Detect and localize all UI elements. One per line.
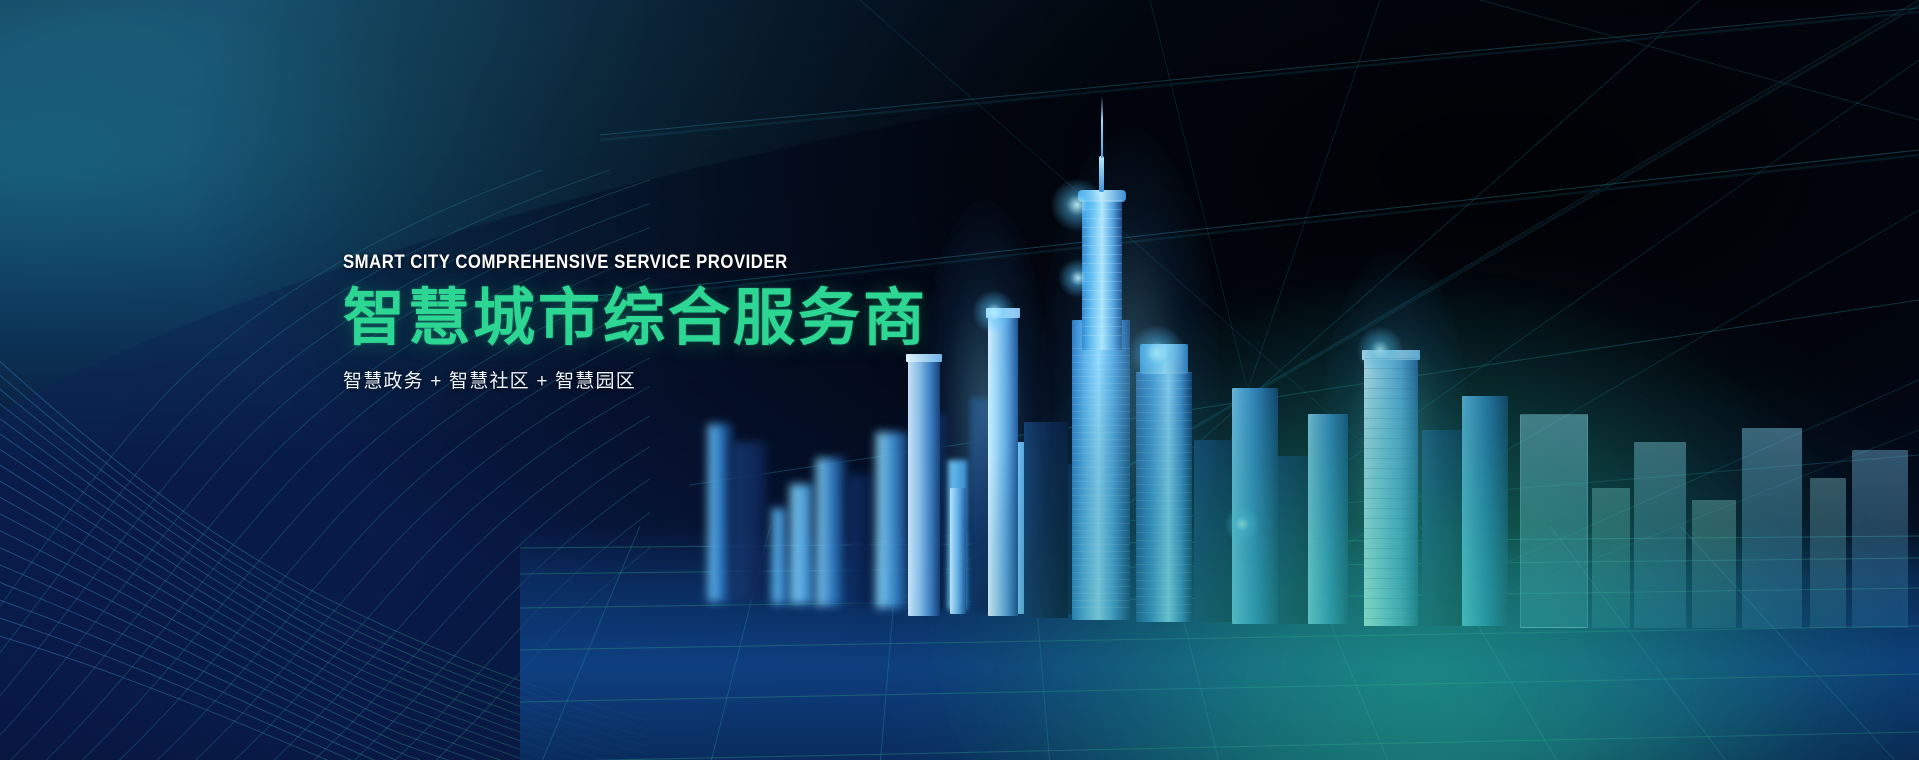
eyebrow-text: SMART CITY COMPREHENSIVE SERVICE PROVIDE… bbox=[343, 252, 1012, 274]
hero-banner: SMART CITY COMPREHENSIVE SERVICE PROVIDE… bbox=[0, 0, 1919, 760]
hero-text-block: SMART CITY COMPREHENSIVE SERVICE PROVIDE… bbox=[343, 252, 1103, 393]
page-title: 智慧城市综合服务商 bbox=[343, 286, 1103, 352]
subtitle-text: 智慧政务 + 智慧社区 + 智慧园区 bbox=[343, 366, 1103, 393]
